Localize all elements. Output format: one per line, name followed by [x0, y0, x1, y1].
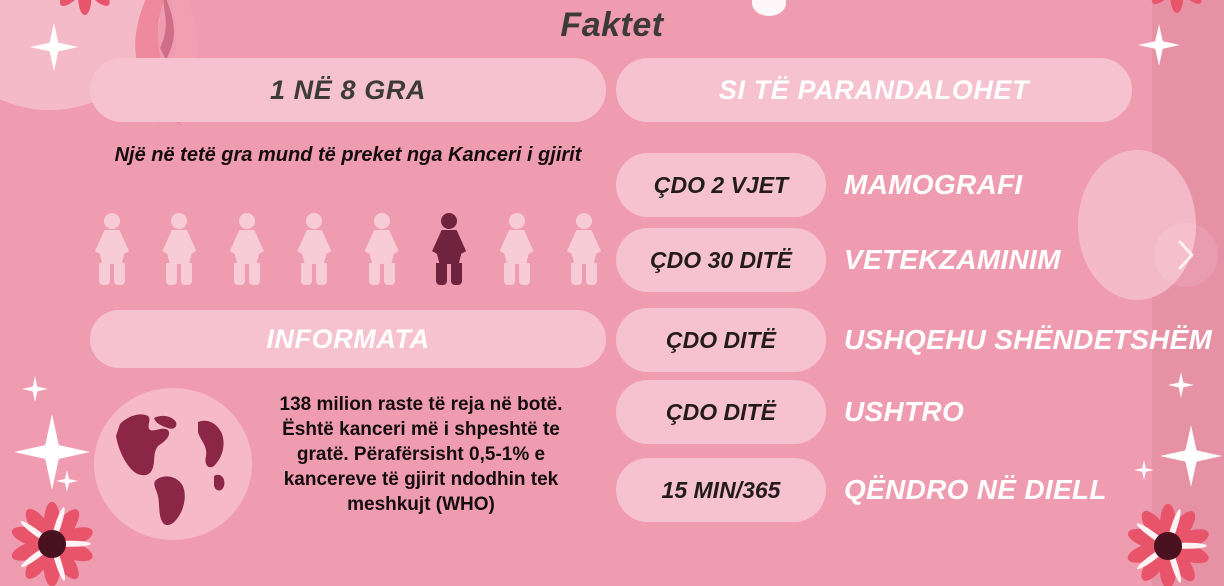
prevention-action: MAMOGRAFI: [844, 169, 1022, 201]
globe-icon: [94, 388, 252, 540]
prevention-action: USHQEHU SHËNDETSHËM: [844, 324, 1212, 356]
sparkle-star-icon: [1134, 460, 1154, 480]
prevention-frequency: ÇDO DITË: [616, 308, 826, 372]
woman-figure-icon: [90, 213, 134, 285]
woman-figure-icon: [225, 213, 269, 285]
prevention-row: ÇDO DITË USHTRO: [616, 380, 964, 444]
prevention-banner: SI TË PARANDALOHET: [616, 58, 1132, 122]
info-paragraph: 138 milion raste të reja në botë. Është …: [262, 392, 580, 517]
prevention-frequency: ÇDO 2 VJET: [616, 153, 826, 217]
woman-figure-icon: [360, 213, 404, 285]
stat-banner: 1 NË 8 GRA: [90, 58, 606, 122]
title-decor-nub: [752, 0, 786, 16]
woman-figure-icon: [292, 213, 336, 285]
next-button[interactable]: [1154, 223, 1218, 287]
info-banner: INFORMATA: [90, 310, 606, 368]
right-edge-band: [1152, 0, 1224, 586]
pictogram-1-in-8: [90, 207, 606, 285]
woman-figure-icon: [495, 213, 539, 285]
prevention-action: USHTRO: [844, 396, 964, 428]
sparkle-star-icon: [14, 414, 90, 490]
prevention-row: ÇDO DITË USHQEHU SHËNDETSHËM: [616, 308, 1212, 372]
infographic-slide: Faktet 1 NË 8 GRA Një në tetë gra mund t…: [0, 0, 1224, 586]
woman-figure-icon-highlighted: [427, 213, 471, 285]
prevention-row: 15 MIN/365 QËNDRO NË DIELL: [616, 458, 1107, 522]
sparkle-star-icon: [22, 376, 48, 402]
chevron-right-icon: [1173, 238, 1199, 272]
page-title: Faktet: [0, 6, 1224, 45]
stat-caption: Një në tetë gra mund të preket nga Kance…: [90, 143, 606, 167]
prevention-action: VETEKZAMINIM: [844, 244, 1061, 276]
prevention-frequency: 15 MIN/365: [616, 458, 826, 522]
prevention-row: ÇDO 2 VJET MAMOGRAFI: [616, 153, 1022, 217]
prevention-action: QËNDRO NË DIELL: [844, 474, 1107, 506]
flower-icon: [1122, 500, 1214, 586]
prevention-row: ÇDO 30 DITË VETEKZAMINIM: [616, 228, 1061, 292]
prevention-frequency: ÇDO DITË: [616, 380, 826, 444]
sparkle-star-icon: [56, 470, 78, 492]
prevention-frequency: ÇDO 30 DITË: [616, 228, 826, 292]
woman-figure-icon: [157, 213, 201, 285]
flower-icon: [6, 498, 98, 586]
woman-figure-icon: [562, 213, 606, 285]
page-title-text: Faktet: [560, 6, 663, 44]
